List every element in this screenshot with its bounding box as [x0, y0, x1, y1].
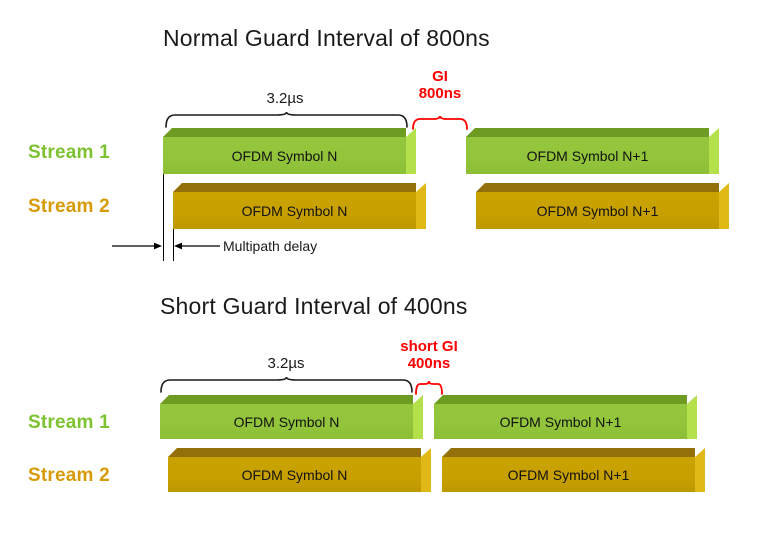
- symbol-duration-label-bottom: 3.2µs: [226, 355, 346, 372]
- gi-label-top-line2: 800ns: [419, 85, 462, 102]
- gi-brace-top: [412, 116, 468, 130]
- gi-label-top-line1: GI: [432, 68, 448, 85]
- block-stream1-symbol-n1-top: OFDM Symbol N+1: [466, 137, 709, 174]
- block-side-face: [719, 183, 729, 229]
- symbol-duration-brace-bottom: [160, 377, 413, 393]
- block-top-face: [476, 183, 719, 192]
- gi-brace-bottom: [415, 381, 443, 395]
- block-top-face: [160, 395, 413, 404]
- block-top-face: [168, 448, 421, 457]
- block-side-face: [709, 128, 719, 174]
- block-label: OFDM Symbol N+1: [476, 192, 719, 229]
- block-stream1-symbol-n1-bottom: OFDM Symbol N+1: [434, 404, 687, 439]
- block-stream1-symbol-n-top: OFDM Symbol N: [163, 137, 406, 174]
- block-top-face: [466, 128, 709, 137]
- block-label: OFDM Symbol N: [168, 457, 421, 492]
- block-side-face: [695, 448, 705, 492]
- block-side-face: [421, 448, 431, 492]
- gi-label-top: GI 800ns: [400, 68, 480, 103]
- block-stream2-symbol-n-bottom: OFDM Symbol N: [168, 457, 421, 492]
- stream-2-label-top: Stream 2: [28, 196, 110, 218]
- block-label: OFDM Symbol N+1: [442, 457, 695, 492]
- multipath-delay-label: Multipath delay: [223, 238, 317, 254]
- block-label: OFDM Symbol N: [160, 404, 413, 439]
- block-top-face: [442, 448, 695, 457]
- gi-label-bottom-line2: 400ns: [408, 355, 451, 372]
- section-title-normal-gi: Normal Guard Interval of 800ns: [163, 25, 490, 52]
- block-side-face: [687, 395, 697, 439]
- block-stream2-symbol-n1-top: OFDM Symbol N+1: [476, 192, 719, 229]
- block-stream2-symbol-n1-bottom: OFDM Symbol N+1: [442, 457, 695, 492]
- stream-1-label-bottom: Stream 1: [28, 412, 110, 434]
- block-stream2-symbol-n-top: OFDM Symbol N: [173, 192, 416, 229]
- block-top-face: [163, 128, 406, 137]
- block-side-face: [416, 183, 426, 229]
- symbol-duration-label-top: 3.2µs: [225, 90, 345, 107]
- block-label: OFDM Symbol N+1: [466, 137, 709, 174]
- block-top-face: [434, 395, 687, 404]
- gi-label-bottom-line1: short GI: [400, 338, 458, 355]
- block-label: OFDM Symbol N: [163, 137, 406, 174]
- gi-label-bottom: short GI 400ns: [389, 338, 469, 373]
- block-stream1-symbol-n-bottom: OFDM Symbol N: [160, 404, 413, 439]
- block-label: OFDM Symbol N: [173, 192, 416, 229]
- block-top-face: [173, 183, 416, 192]
- symbol-duration-brace-top: [165, 112, 408, 128]
- block-label: OFDM Symbol N+1: [434, 404, 687, 439]
- diagram-canvas: Normal Guard Interval of 800ns 3.2µs GI …: [0, 0, 760, 540]
- block-side-face: [413, 395, 423, 439]
- stream-2-label-bottom: Stream 2: [28, 465, 110, 487]
- section-title-short-gi: Short Guard Interval of 400ns: [160, 293, 468, 320]
- stream-1-label-top: Stream 1: [28, 142, 110, 164]
- block-side-face: [406, 128, 416, 174]
